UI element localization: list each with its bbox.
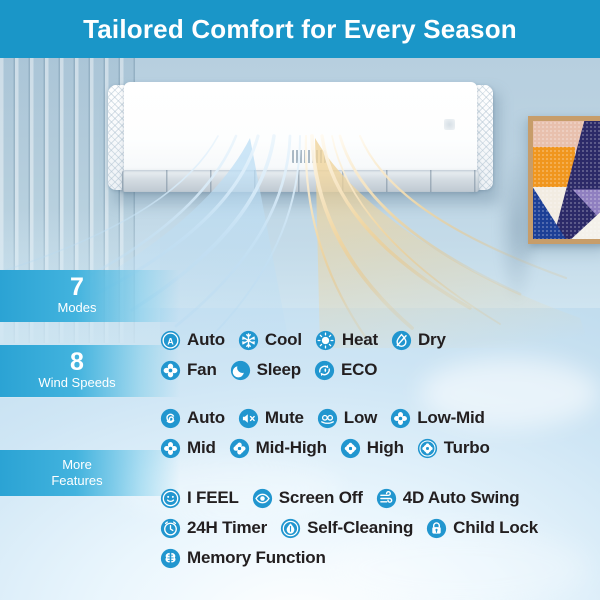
low-breeze-icon <box>317 408 338 429</box>
feature-group-modes: A Auto Cool <box>160 325 600 385</box>
fan-mid-icon <box>160 438 181 459</box>
feature-label: Screen Off <box>279 488 363 508</box>
fan-low-mid-icon <box>390 408 411 429</box>
feature-item-i-feel[interactable]: I FEEL <box>160 488 239 509</box>
feature-item-low-mid[interactable]: Low-Mid <box>390 408 485 429</box>
feature-label: Turbo <box>444 438 490 458</box>
feature-item-wind-auto[interactable]: Auto <box>160 408 225 429</box>
feature-item-child-lock[interactable]: Child Lock <box>426 518 538 539</box>
fan-high-icon <box>340 438 361 459</box>
feature-item-24h-timer[interactable]: 24H Timer <box>160 518 267 539</box>
product-feature-infographic: Tailored Comfort for Every Season <box>0 0 600 600</box>
feature-item-cool[interactable]: Cool <box>238 330 302 351</box>
moon-sleep-icon: Z <box>230 360 251 381</box>
self-cleaning-icon <box>280 518 301 539</box>
auto-circle-a-icon: A <box>160 330 181 351</box>
feature-label: Fan <box>187 360 217 380</box>
feature-row: I FEEL Screen Off <box>160 483 600 513</box>
spiral-auto-icon <box>160 408 181 429</box>
feature-item-self-cleaning[interactable]: Self-Cleaning <box>280 518 413 539</box>
feature-item-turbo[interactable]: Turbo <box>417 438 490 459</box>
header-bar: Tailored Comfort for Every Season <box>0 0 600 58</box>
feature-item-mute[interactable]: Mute <box>238 408 304 429</box>
feature-item-eco[interactable]: ECO <box>314 360 377 381</box>
speaker-mute-icon <box>238 408 259 429</box>
fan-turbo-icon <box>417 438 438 459</box>
svg-text:A: A <box>167 336 174 346</box>
i-feel-smiley-icon <box>160 488 181 509</box>
feature-item-low[interactable]: Low <box>317 408 377 429</box>
eco-leaf-arrows-icon <box>314 360 335 381</box>
feature-label: Self-Cleaning <box>307 518 413 538</box>
feature-item-heat[interactable]: Heat <box>315 330 378 351</box>
fan-blades-icon <box>160 360 181 381</box>
padlock-icon <box>426 518 447 539</box>
feature-item-mid-high[interactable]: Mid-High <box>229 438 327 459</box>
feature-label: Sleep <box>257 360 301 380</box>
feature-label: Low-Mid <box>417 408 485 428</box>
feature-label: Mid <box>187 438 216 458</box>
feature-item-high[interactable]: High <box>340 438 404 459</box>
feature-label: High <box>367 438 404 458</box>
brain-memory-icon <box>160 548 181 569</box>
feature-label: Auto <box>187 330 225 350</box>
alarm-clock-icon <box>160 518 181 539</box>
feature-row: Auto Mute <box>160 403 600 433</box>
feature-group-more-features: I FEEL Screen Off <box>160 483 600 573</box>
feature-label: 24H Timer <box>187 518 267 538</box>
page-title: Tailored Comfort for Every Season <box>83 14 517 45</box>
feature-item-memory-function[interactable]: Memory Function <box>160 548 326 569</box>
feature-label: 4D Auto Swing <box>403 488 520 508</box>
feature-item-auto[interactable]: A Auto <box>160 330 225 351</box>
eye-screen-off-icon <box>252 488 273 509</box>
feature-item-4d-auto-swing[interactable]: 4D Auto Swing <box>376 488 520 509</box>
feature-group-wind-speeds: Auto Mute <box>160 403 600 463</box>
fan-mid-high-icon <box>229 438 250 459</box>
feature-label: Heat <box>342 330 378 350</box>
feature-label: Memory Function <box>187 548 326 568</box>
feature-item-sleep[interactable]: Z Sleep <box>230 360 301 381</box>
feature-label: ECO <box>341 360 377 380</box>
feature-label: Auto <box>187 408 225 428</box>
feature-label: Mute <box>265 408 304 428</box>
snowflake-icon <box>238 330 259 351</box>
feature-label: Dry <box>418 330 446 350</box>
feature-item-dry[interactable]: Dry <box>391 330 446 351</box>
feature-label: I FEEL <box>187 488 239 508</box>
feature-row: Mid Mid- <box>160 433 600 463</box>
feature-label: Mid-High <box>256 438 327 458</box>
air-swing-icon <box>376 488 397 509</box>
feature-item-mid[interactable]: Mid <box>160 438 216 459</box>
feature-row: Memory Function <box>160 543 600 573</box>
feature-label: Low <box>344 408 377 428</box>
feature-item-screen-off[interactable]: Screen Off <box>252 488 363 509</box>
feature-item-fan[interactable]: Fan <box>160 360 217 381</box>
feature-label: Cool <box>265 330 302 350</box>
svg-text:Z: Z <box>239 366 243 373</box>
feature-label: Child Lock <box>453 518 538 538</box>
feature-row: Fan Z Sleep <box>160 355 600 385</box>
sun-icon <box>315 330 336 351</box>
water-drop-slash-icon <box>391 330 412 351</box>
feature-groups: A Auto Cool <box>0 58 600 600</box>
feature-row: 24H Timer Self-Cleaning <box>160 513 600 543</box>
feature-row: A Auto Cool <box>160 325 600 355</box>
